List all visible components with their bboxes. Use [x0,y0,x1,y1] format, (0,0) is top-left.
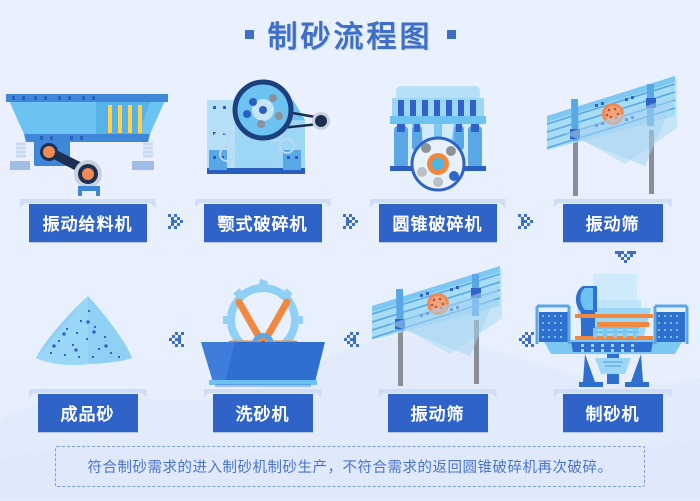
flow-step-jaw-crusher[interactable]: 颚式破碎机 [175,72,350,242]
step-label-finished-sand: 成品砂 [38,394,138,432]
sand-washer-illustration [175,262,350,392]
step-label-vibrating-screen-top: 振动筛 [563,204,663,242]
label-banner: 振动给料机 [29,204,147,242]
vibrating-screen-illustration [525,72,700,202]
flow-step-vibrating-screen-bottom[interactable]: 振动筛 [350,262,525,432]
chevron-right-icon-2 [341,209,361,231]
label-banner: 制砂机 [563,394,663,432]
label-banner: 颚式破碎机 [204,204,322,242]
vibrating-screen-illustration [350,262,525,392]
cone-crusher-illustration [350,72,525,202]
jaw-crusher-illustration [175,72,350,202]
flow-step-vibrating-screen-top[interactable]: 振动筛 [525,72,700,242]
title-square-left-icon [245,30,254,39]
step-label-vibrating-feeder: 振动给料机 [29,204,147,242]
label-banner: 成品砂 [38,394,138,432]
chevron-left-icon-1 [166,327,186,349]
sand-making-machine-illustration [525,262,700,392]
step-label-sand-washer: 洗砂机 [213,394,313,432]
flow-step-vibrating-feeder[interactable]: 振动给料机 [0,72,175,242]
flow-step-sand-washer[interactable]: 洗砂机 [175,262,350,432]
flow-step-finished-sand[interactable]: 成品砂 [0,262,175,432]
vibrating-feeder-illustration [0,72,175,202]
footer-note-text: 符合制砂需求的进入制砂机制砂生产，不符合需求的返回圆锥破碎机再次破碎。 [88,460,613,476]
chevron-right-icon-1 [166,209,186,231]
step-label-jaw-crusher: 颚式破碎机 [204,204,322,242]
step-label-cone-crusher: 圆锥破碎机 [379,204,497,242]
step-label-sand-making-machine: 制砂机 [563,394,663,432]
flow-step-cone-crusher[interactable]: 圆锥破碎机 [350,72,525,242]
footer-note: 符合制砂需求的进入制砂机制砂生产，不符合需求的返回圆锥破碎机再次破碎。 [55,446,645,487]
sand-pile-illustration [0,262,175,392]
title-square-right-icon [447,30,456,39]
flow-step-sand-making-machine[interactable]: 制砂机 [525,262,700,432]
step-label-vibrating-screen-bottom: 振动筛 [388,394,488,432]
chevron-left-icon-3 [516,327,536,349]
flow-diagram-canvas: 制砂流程图 [0,0,700,501]
label-banner: 洗砂机 [213,394,313,432]
title-text: 制砂流程图 [268,12,433,56]
label-banner: 振动筛 [388,394,488,432]
chevron-left-icon-2 [341,327,361,349]
chevron-right-icon-3 [516,209,536,231]
label-banner: 振动筛 [563,204,663,242]
page-title: 制砂流程图 [0,12,700,56]
label-banner: 圆锥破碎机 [379,204,497,242]
